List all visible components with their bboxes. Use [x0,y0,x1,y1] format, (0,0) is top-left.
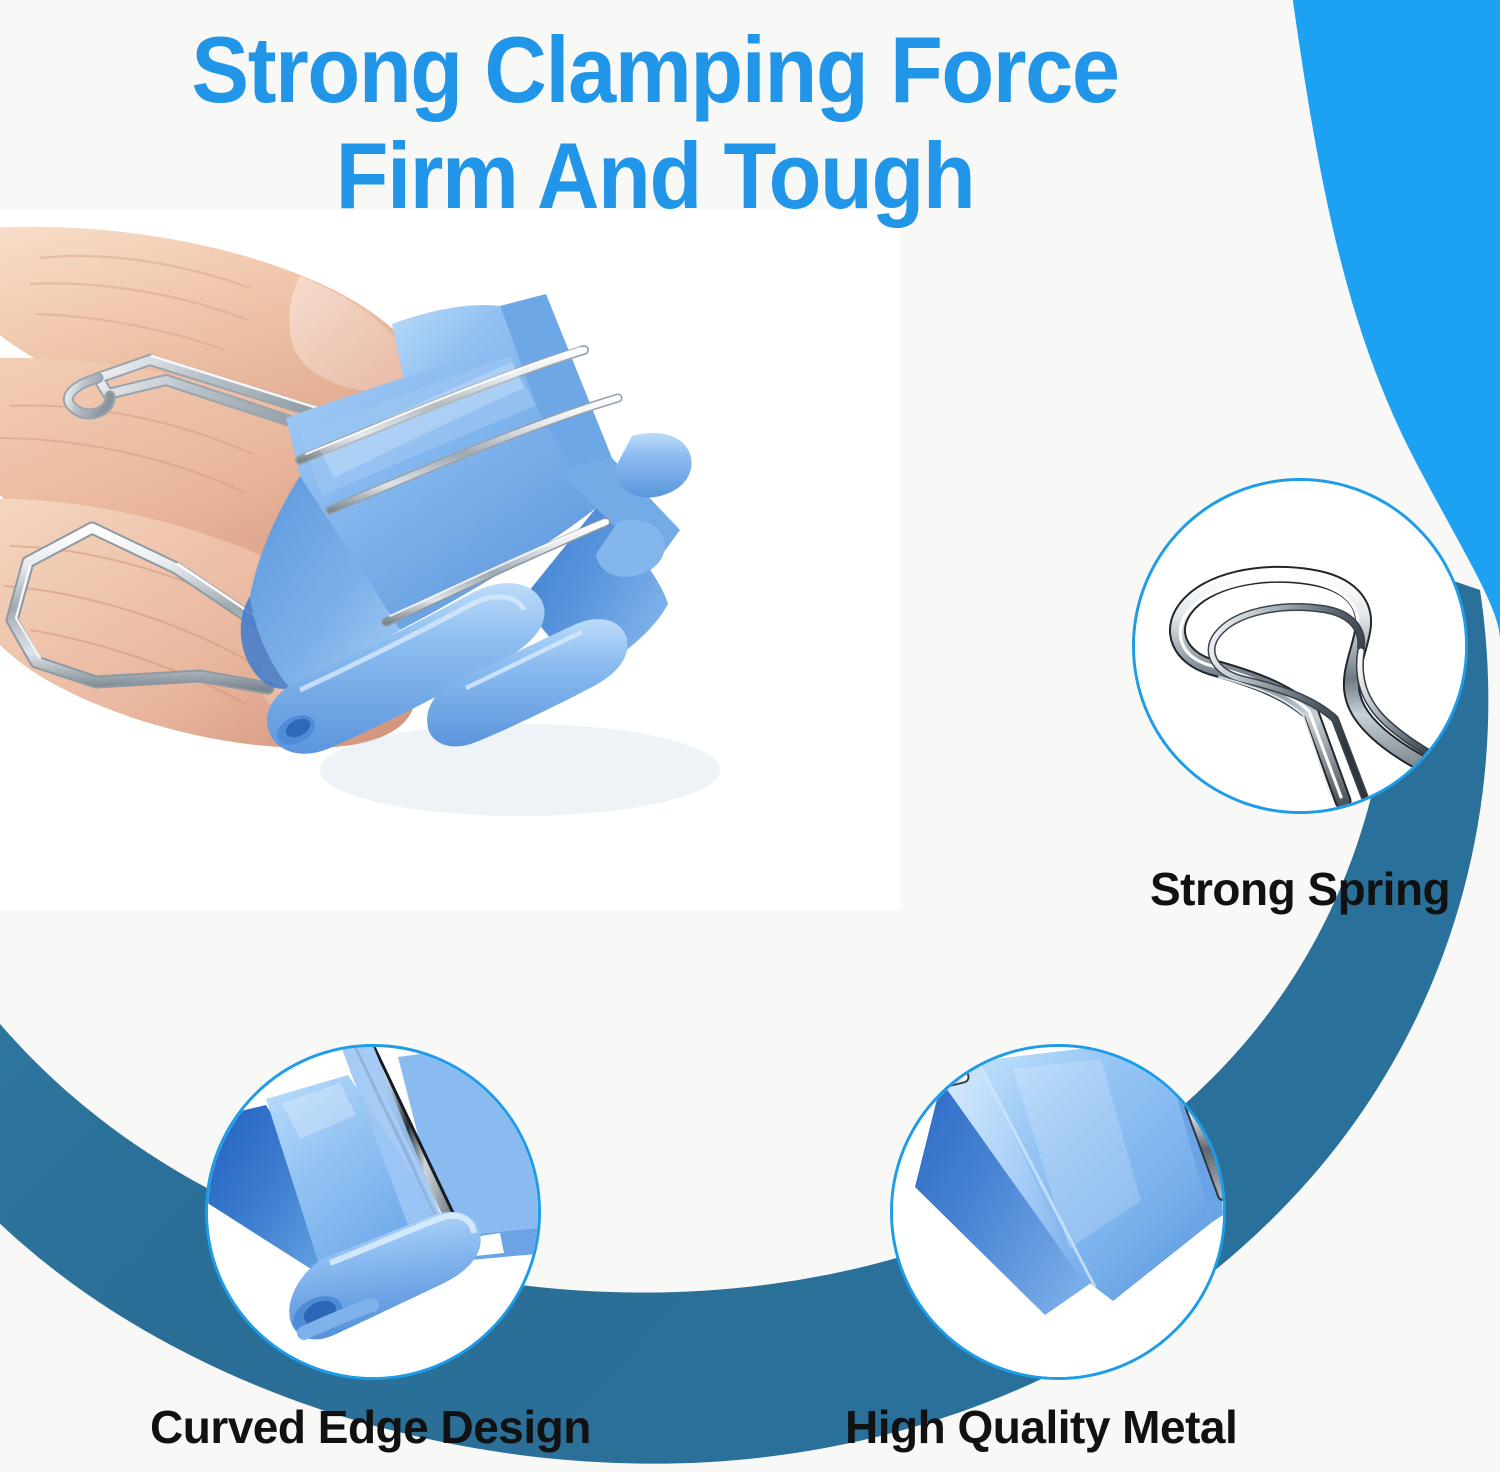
inset-curved-edge [205,1044,541,1380]
caption-strong-spring: Strong Spring [1150,862,1450,916]
curved-edge-closeup-illustration [208,1047,538,1377]
inset-high-quality-metal [890,1044,1226,1380]
caption-curved-edge-design: Curved Edge Design [150,1400,591,1454]
hero-product-photo [0,210,900,910]
metal-closeup-illustration [893,1047,1223,1377]
inset-strong-spring [1132,478,1468,814]
spring-closeup-illustration [1135,481,1465,811]
caption-high-quality-metal: High Quality Metal [845,1400,1237,1454]
infographic-canvas: Strong Clamping Force Firm And Tough [0,0,1500,1472]
